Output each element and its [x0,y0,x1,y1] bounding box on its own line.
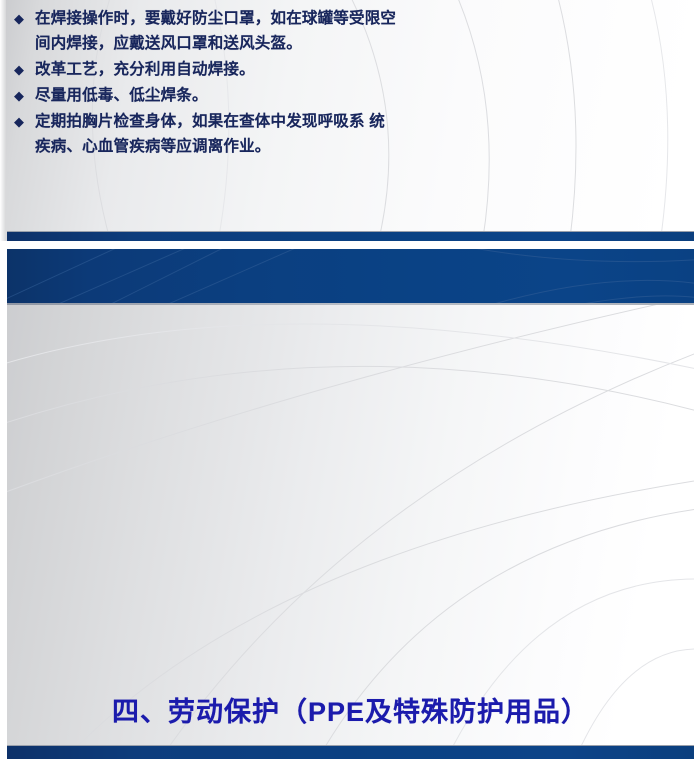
slide-bottom-background [7,249,694,758]
slide-deck: ◆ 在焊接操作时，要戴好防尘口罩，如在球罐等受限空 间内焊接，应戴送风口罩和送风… [0,0,694,758]
diamond-bullet-icon: ◆ [12,6,35,31]
slide-bottom-header-band [7,249,694,303]
list-item: ◆ 定期拍胸片检查身体，如果在查体中发现呼吸系 统 疾病、心血管疾病等应调离作业… [12,109,672,159]
list-item: ◆ 尽量用低毒、低尘焊条。 [12,83,672,108]
bullet-text: 在焊接操作时，要戴好防尘口罩，如在球罐等受限空 间内焊接，应戴送风口罩和送风头盔… [35,6,672,56]
slide-top: ◆ 在焊接操作时，要戴好防尘口罩，如在球罐等受限空 间内焊接，应戴送风口罩和送风… [0,0,694,241]
diamond-bullet-icon: ◆ [12,83,35,108]
bullet-text: 尽量用低毒、低尘焊条。 [35,83,672,108]
bullet-list: ◆ 在焊接操作时，要戴好防尘口罩，如在球罐等受限空 间内焊接，应戴送风口罩和送风… [12,6,672,160]
diamond-bullet-icon: ◆ [12,57,35,82]
bullet-text: 定期拍胸片检查身体，如果在查体中发现呼吸系 统 疾病、心血管疾病等应调离作业。 [35,109,672,159]
list-item: ◆ 改革工艺，充分利用自动焊接。 [12,57,672,82]
slide-bottom-footer-bar [7,745,694,759]
slide-bottom: 四、劳动保护（PPE及特殊防护用品） [7,249,694,758]
slide-top-footer-bar [7,231,694,241]
bullet-text: 改革工艺，充分利用自动焊接。 [35,57,672,82]
band-texture [7,249,694,303]
list-item: ◆ 在焊接操作时，要戴好防尘口罩，如在球罐等受限空 间内焊接，应戴送风口罩和送风… [12,6,672,56]
band-bottom-edge [7,303,694,305]
slide-top-left-edge [0,0,6,241]
diamond-bullet-icon: ◆ [12,109,35,134]
page-title: 四、劳动保护（PPE及特殊防护用品） [7,695,694,729]
